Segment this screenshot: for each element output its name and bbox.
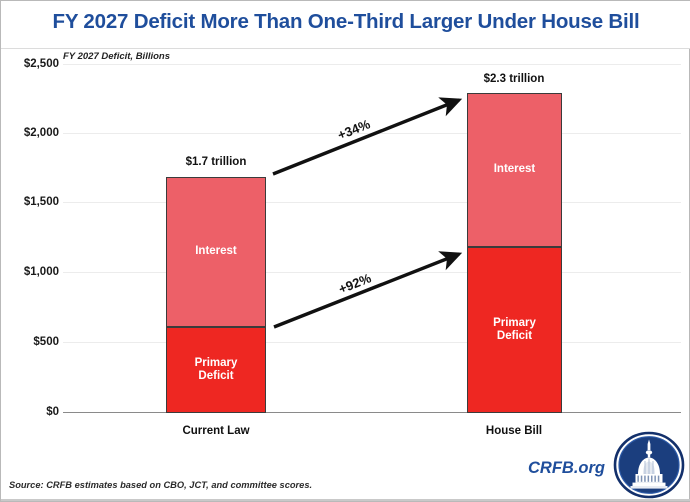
plot-area: FY 2027 Deficit, Billions $2,500 $2,000 …	[1, 48, 690, 438]
footer: Source: CRFB estimates based on CBO, JCT…	[1, 437, 690, 501]
annotation-arrows	[1, 48, 690, 438]
arrow-primary-growth	[274, 254, 459, 327]
brand-label[interactable]: CRFB.org	[528, 459, 605, 478]
crfb-capitol-logo[interactable]	[613, 431, 685, 499]
page-title: FY 2027 Deficit More Than One-Third Larg…	[1, 10, 690, 34]
source-note: Source: CRFB estimates based on CBO, JCT…	[9, 480, 312, 490]
title-bar: FY 2027 Deficit More Than One-Third Larg…	[1, 1, 690, 49]
arrow-total-growth	[273, 100, 459, 174]
chart-frame: FY 2027 Deficit More Than One-Third Larg…	[0, 0, 690, 502]
footer-rule	[1, 499, 690, 501]
